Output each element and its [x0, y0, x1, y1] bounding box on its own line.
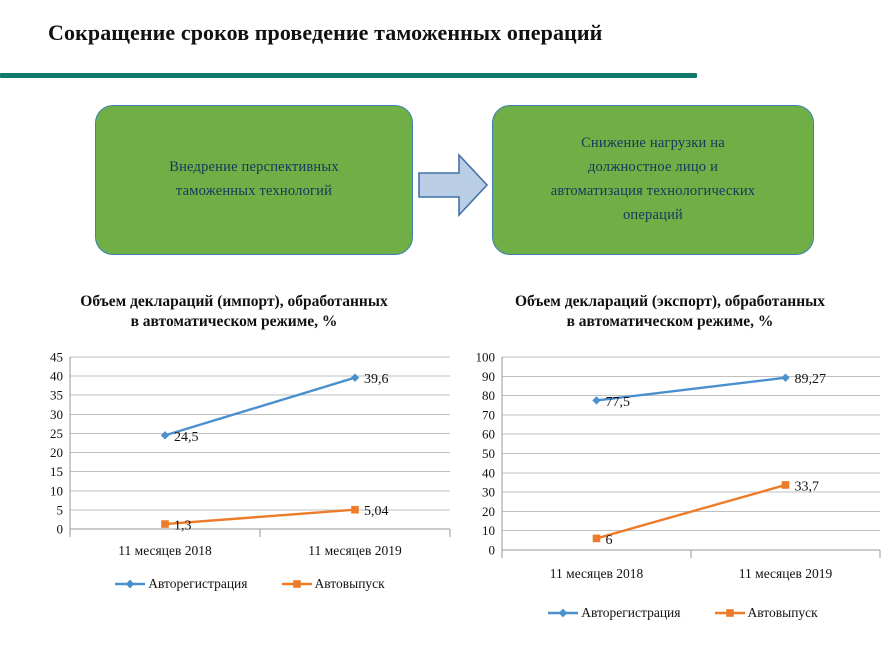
- y-axis-tick-label: 80: [482, 388, 495, 403]
- legend-label-autorelease: Автовыпуск: [315, 576, 385, 592]
- y-axis-tick-label: 30: [482, 485, 495, 500]
- legend-key-autorelease: [282, 578, 312, 590]
- y-axis-tick-label: 40: [482, 466, 495, 481]
- x-axis-category-label: 11 месяцев 2019: [739, 566, 833, 581]
- y-axis-tick-label: 40: [50, 369, 63, 384]
- y-axis-tick-label: 35: [50, 388, 63, 403]
- data-point-label: 1,3: [174, 519, 192, 534]
- chart-export: Объем деклараций (экспорт), обработанных…: [452, 292, 886, 637]
- legend-key-autorelease: [715, 607, 745, 619]
- y-axis-tick-label: 20: [482, 504, 495, 519]
- y-axis-tick-label: 0: [489, 543, 496, 558]
- legend-key-autoregistration: [115, 578, 145, 590]
- chart-import-legend: Авторегистрация Автовыпуск: [20, 576, 452, 592]
- flow-box-right: Снижение нагрузки на должностное лицо и …: [492, 105, 814, 255]
- data-point-label: 39,6: [364, 372, 389, 387]
- y-axis-tick-label: 60: [482, 427, 495, 442]
- y-axis-tick-label: 20: [50, 445, 63, 460]
- data-point-label: 77,5: [606, 395, 631, 410]
- x-axis-category-label: 11 месяцев 2018: [550, 566, 644, 581]
- flow-box-left: Внедрение перспективных таможенных техно…: [95, 105, 413, 255]
- data-point-label: 24,5: [174, 430, 199, 445]
- x-axis-category-label: 11 месяцев 2019: [308, 543, 402, 558]
- flow-box-right-label: Снижение нагрузки на должностное лицо и …: [551, 132, 755, 228]
- chart-import: Объем деклараций (импорт), обработанных …: [20, 292, 452, 612]
- chart-export-title: Объем деклараций (экспорт), обработанных…: [460, 292, 880, 332]
- y-axis-tick-label: 45: [50, 350, 63, 365]
- data-point-label: 33,7: [795, 480, 820, 495]
- chart-import-plot: 05101520253035404511 месяцев 201811 меся…: [20, 345, 452, 570]
- arrow-right-icon: [415, 147, 491, 223]
- y-axis-tick-label: 90: [482, 369, 495, 384]
- title-divider: [0, 73, 697, 78]
- flow-box-left-label: Внедрение перспективных таможенных техно…: [169, 156, 339, 204]
- y-axis-tick-label: 5: [57, 503, 64, 518]
- y-axis-tick-label: 10: [50, 484, 63, 499]
- y-axis-tick-label: 50: [482, 446, 495, 461]
- y-axis-tick-label: 15: [50, 464, 63, 479]
- legend-item-autoregistration: Авторегистрация: [115, 576, 247, 592]
- legend-key-autoregistration: [548, 607, 578, 619]
- y-axis-tick-label: 30: [50, 407, 63, 422]
- chart-export-legend: Авторегистрация Автовыпуск: [452, 605, 886, 621]
- chart-import-title: Объем деклараций (импорт), обработанных …: [24, 292, 444, 332]
- legend-item-autorelease: Автовыпуск: [282, 576, 385, 592]
- data-point-label: 6: [606, 533, 613, 548]
- legend-label-autorelease: Автовыпуск: [748, 605, 818, 621]
- chart-export-plot: 010203040506070809010011 месяцев 201811 …: [452, 345, 886, 595]
- y-axis-tick-label: 0: [57, 522, 64, 537]
- data-point-label: 5,04: [364, 505, 389, 520]
- y-axis-tick-label: 25: [50, 426, 63, 441]
- y-axis-tick-label: 10: [482, 523, 495, 538]
- chart-export-svg: 010203040506070809010011 месяцев 201811 …: [452, 345, 886, 595]
- legend-label-autoregistration: Авторегистрация: [148, 576, 247, 592]
- chart-import-svg: 05101520253035404511 месяцев 201811 меся…: [20, 345, 452, 570]
- y-axis-tick-label: 100: [476, 350, 496, 365]
- data-point-label: 89,27: [795, 372, 827, 387]
- x-axis-category-label: 11 месяцев 2018: [118, 543, 212, 558]
- legend-item-autoregistration: Авторегистрация: [548, 605, 680, 621]
- y-axis-tick-label: 70: [482, 408, 495, 423]
- page-title: Сокращение сроков проведение таможенных …: [48, 20, 748, 45]
- legend-label-autoregistration: Авторегистрация: [581, 605, 680, 621]
- legend-item-autorelease: Автовыпуск: [715, 605, 818, 621]
